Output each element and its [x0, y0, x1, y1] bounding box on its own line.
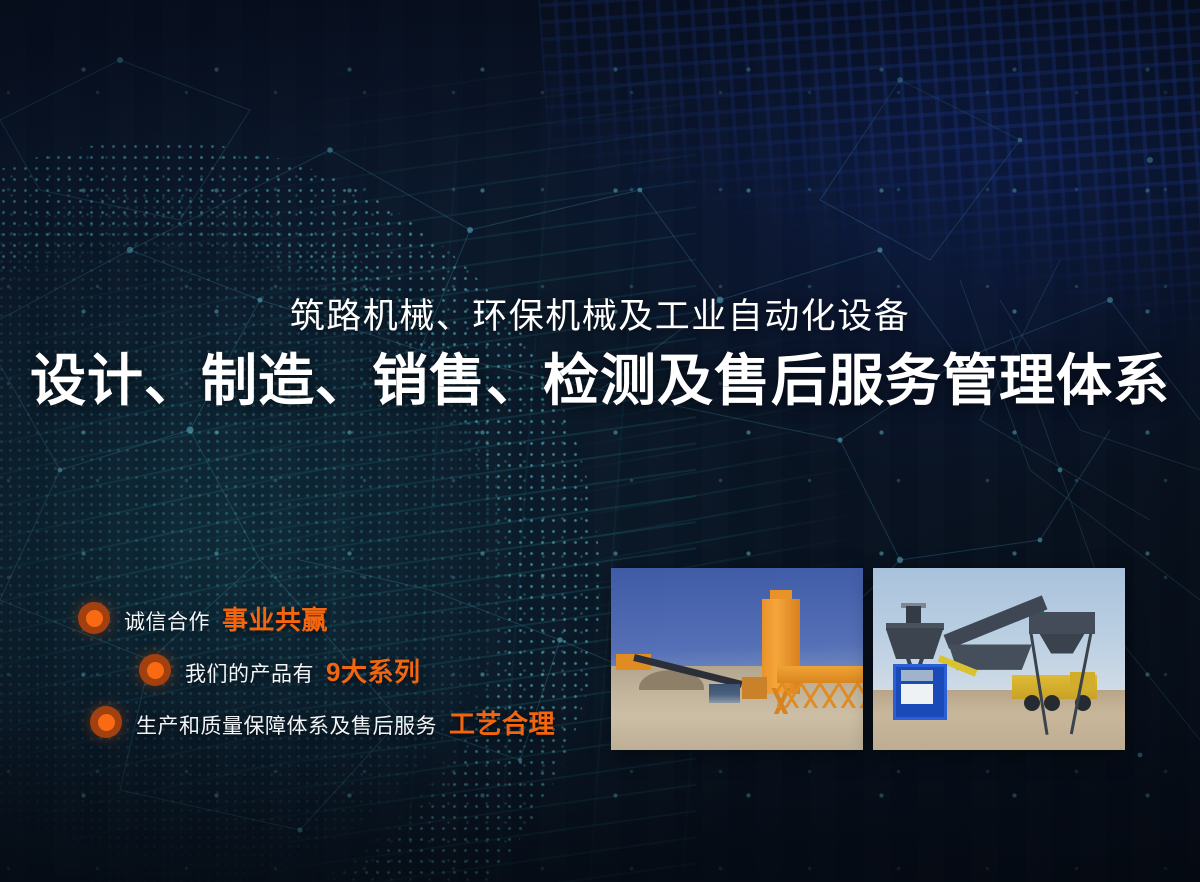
banner-content: 筑路机械、环保机械及工业自动化设备 设计、制造、销售、检测及售后服务管理体系 诚… [0, 0, 1200, 882]
list-item: 诚信合作 事业共赢 [78, 592, 600, 644]
headline-title: 设计、制造、销售、检测及售后服务管理体系 [0, 347, 1200, 414]
bullet-dot-icon [90, 706, 122, 738]
hero-banner: 筑路机械、环保机械及工业自动化设备 设计、制造、销售、检测及售后服务管理体系 诚… [0, 0, 1200, 882]
feature-point-text: 我们的产品有 9大系列 [185, 652, 420, 689]
feature-point-label: 我们的产品有 [185, 658, 314, 688]
photo-mixer-unit [742, 677, 767, 699]
feature-point-text: 诚信合作 事业共赢 [124, 600, 328, 637]
photo-plant-deck [777, 666, 863, 682]
feature-point-list: 诚信合作 事业共赢 我们的产品有 9大系列 生产和质量保障体系及售后服务 工艺合… [0, 592, 600, 748]
photo-booth-window [901, 684, 934, 704]
feature-point-accent: 9大系列 [326, 652, 420, 689]
feature-point-accent: 工艺合理 [449, 704, 555, 741]
headline-subtitle: 筑路机械、环保机械及工业自动化设备 [0, 296, 1200, 337]
headline-block: 筑路机械、环保机械及工业自动化设备 设计、制造、销售、检测及售后服务管理体系 [0, 296, 1200, 414]
photo-booth-upper-window [901, 670, 934, 681]
feature-point-text: 生产和质量保障体系及售后服务 工艺合理 [136, 704, 555, 741]
feature-point-label: 诚信合作 [124, 606, 210, 636]
photo-control-cabin [709, 684, 739, 702]
bullet-dot-icon [78, 602, 110, 634]
photo-concrete-batching-plant [611, 568, 863, 750]
photo-plant-truss [777, 683, 863, 708]
feature-point-label: 生产和质量保障体系及售后服务 [136, 710, 437, 740]
bullet-dot-icon [139, 654, 171, 686]
feature-point-accent: 事业共赢 [222, 600, 328, 637]
list-item: 我们的产品有 9大系列 [139, 644, 600, 696]
photo-mobile-screening-plant [873, 568, 1125, 750]
photo-gallery [611, 568, 1125, 750]
list-item: 生产和质量保障体系及售后服务 工艺合理 [90, 696, 600, 748]
photo-elevated-hopper [1029, 612, 1095, 634]
